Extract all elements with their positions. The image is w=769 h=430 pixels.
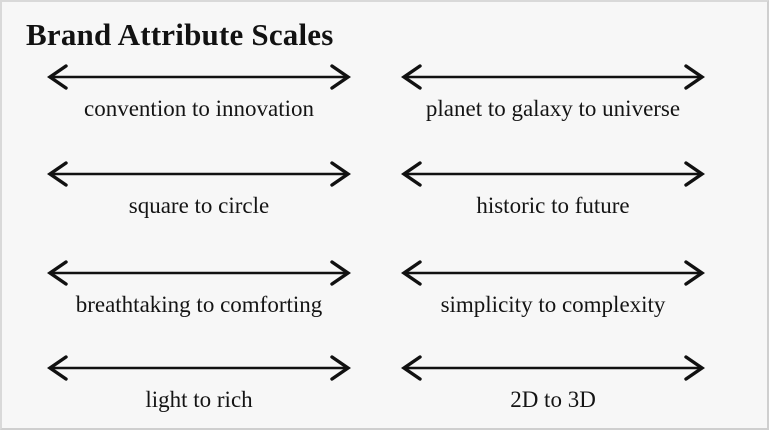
double-headed-arrow-icon — [392, 353, 714, 383]
scale-label: planet to galaxy to universe — [426, 94, 680, 124]
scale-label: breathtaking to comforting — [76, 290, 323, 320]
scale-label: square to circle — [129, 191, 269, 221]
scale-label: 2D to 3D — [510, 385, 596, 415]
double-headed-arrow-icon — [38, 62, 360, 92]
scale-item: square to circle — [2, 153, 370, 246]
scale-item: historic to future — [370, 153, 769, 246]
scale-label: simplicity to complexity — [441, 290, 666, 320]
scale-label: convention to innovation — [84, 94, 314, 124]
scale-item: breathtaking to comforting — [2, 246, 370, 339]
scales-grid: convention to innovation planet to galax… — [2, 60, 767, 430]
scale-item: 2D to 3D — [370, 339, 769, 430]
scale-label: historic to future — [476, 191, 629, 221]
double-headed-arrow-icon — [38, 258, 360, 288]
scale-item: light to rich — [2, 339, 370, 430]
double-headed-arrow-icon — [392, 159, 714, 189]
double-headed-arrow-icon — [392, 62, 714, 92]
double-headed-arrow-icon — [38, 159, 360, 189]
scale-item: convention to innovation — [2, 60, 370, 153]
scale-item: simplicity to complexity — [370, 246, 769, 339]
double-headed-arrow-icon — [392, 258, 714, 288]
brand-attribute-scales-poster: Brand Attribute Scales convention to inn… — [0, 0, 769, 430]
scale-item: planet to galaxy to universe — [370, 60, 769, 153]
page-title: Brand Attribute Scales — [26, 16, 334, 54]
double-headed-arrow-icon — [38, 353, 360, 383]
scale-label: light to rich — [145, 385, 252, 415]
